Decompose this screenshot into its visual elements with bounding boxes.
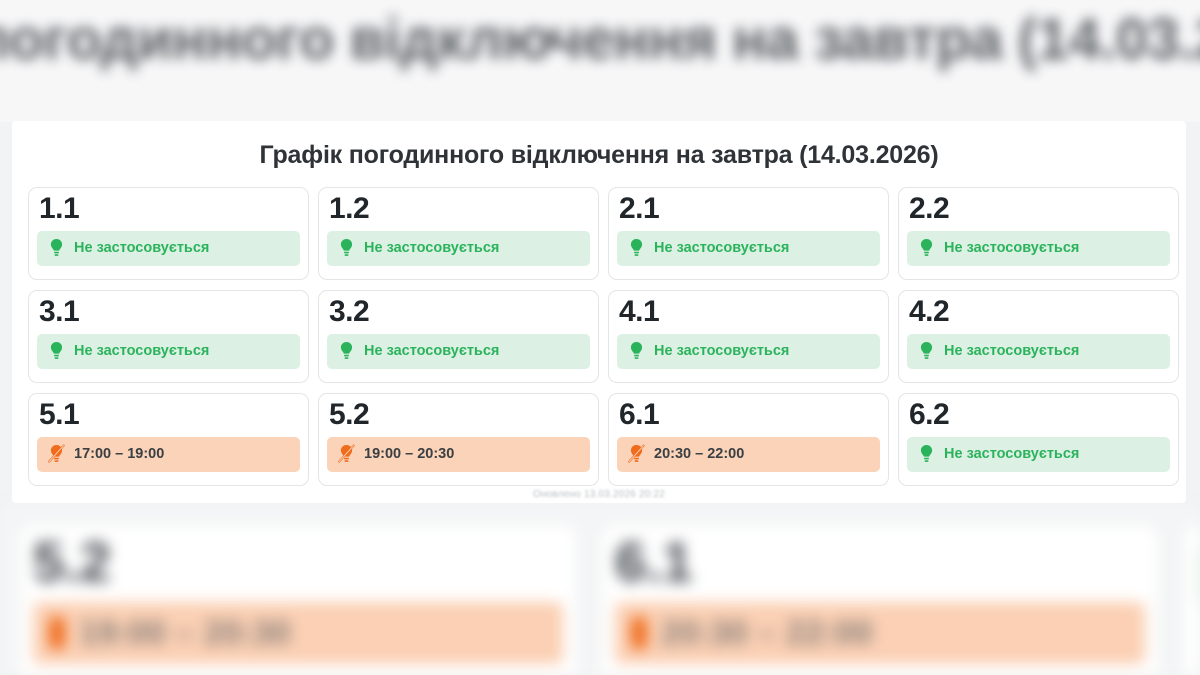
- ghost-card-badge: 20:30 – 22:00: [615, 602, 1145, 664]
- ghost-card-time: 20:30 – 22:00: [661, 614, 873, 653]
- queue-card[interactable]: 3.1 Не застосовується: [28, 290, 309, 383]
- queue-card[interactable]: 4.2 Не застосовується: [898, 290, 1179, 383]
- lightbulb-icon: [628, 341, 645, 361]
- ghost-card-number: 6.1: [615, 534, 1145, 590]
- status-badge: Не застосовується: [327, 231, 590, 266]
- queue-number: 1.2: [327, 191, 590, 228]
- lightbulb-icon: [918, 238, 935, 258]
- status-label: Не застосовується: [944, 447, 1079, 462]
- status-badge: Не застосовується: [907, 334, 1170, 369]
- queue-number: 3.1: [37, 294, 300, 331]
- status-label: 17:00 – 19:00: [74, 447, 164, 462]
- queue-card[interactable]: 4.1 Не застосовується: [608, 290, 889, 383]
- lightbulb-icon: [918, 341, 935, 361]
- lightbulb-slash-icon: [631, 616, 647, 650]
- queue-card[interactable]: 2.2 Не застосовується: [898, 187, 1179, 280]
- ghost-card-number: 5.2: [33, 534, 563, 590]
- ghost-card-badge: 19:00 – 20:30: [33, 602, 563, 664]
- status-label: Не застосовується: [654, 344, 789, 359]
- queue-card[interactable]: 1.1 Не застосовується: [28, 187, 309, 280]
- lightbulb-icon: [48, 238, 65, 258]
- status-label: Не застосовується: [944, 344, 1079, 359]
- status-badge: Не застосовується: [37, 334, 300, 369]
- status-badge: Не застосовується: [907, 231, 1170, 266]
- page-title: Графік погодинного відключення на завтра…: [12, 142, 1186, 170]
- status-badge: Не застосовується: [617, 231, 880, 266]
- ghost-card: 5.2 19:00 – 20:30: [18, 523, 578, 675]
- queue-number: 6.1: [617, 397, 880, 434]
- lightbulb-icon: [918, 444, 935, 464]
- status-badge: 19:00 – 20:30: [327, 437, 590, 472]
- status-label: Не застосовується: [654, 241, 789, 256]
- lightbulb-icon: [338, 238, 355, 258]
- queue-number: 2.2: [907, 191, 1170, 228]
- ghost-card: [1182, 523, 1200, 675]
- queue-card[interactable]: 5.2 19:00 – 20:30: [318, 393, 599, 486]
- queue-card[interactable]: 1.2 Не застосовується: [318, 187, 599, 280]
- queue-card[interactable]: 5.1 17:00 – 19:00: [28, 393, 309, 486]
- background-ghost-cards: 5.2 19:00 – 20:30 6.1 20:30 – 22:00: [0, 505, 1200, 675]
- status-label: 19:00 – 20:30: [364, 447, 454, 462]
- queue-card[interactable]: 6.1 20:30 – 22:00: [608, 393, 889, 486]
- status-label: Не застосовується: [944, 241, 1079, 256]
- queue-number: 5.2: [327, 397, 590, 434]
- ghost-card-time: 19:00 – 20:30: [79, 614, 291, 653]
- status-label: Не застосовується: [74, 344, 209, 359]
- lightbulb-icon: [338, 341, 355, 361]
- queue-number: 2.1: [617, 191, 880, 228]
- lightbulb-slash-icon: [48, 444, 65, 464]
- status-badge: Не застосовується: [907, 437, 1170, 472]
- queue-number: 5.1: [37, 397, 300, 434]
- lightbulb-slash-icon: [49, 616, 65, 650]
- lightbulb-icon: [628, 238, 645, 258]
- queue-card[interactable]: 3.2 Не застосовується: [318, 290, 599, 383]
- lightbulb-icon: [48, 341, 65, 361]
- queue-card[interactable]: 6.2 Не застосовується: [898, 393, 1179, 486]
- ghost-header-title: к погодинного відключення на завтра (14.…: [0, 6, 1200, 73]
- queue-number: 6.2: [907, 397, 1170, 434]
- status-badge: 20:30 – 22:00: [617, 437, 880, 472]
- background-ghost-header: к погодинного відключення на завтра (14.…: [0, 0, 1200, 122]
- status-badge: Не застосовується: [37, 231, 300, 266]
- schedule-panel: Графік погодинного відключення на завтра…: [12, 121, 1186, 503]
- lightbulb-slash-icon: [338, 444, 355, 464]
- ghost-card: 6.1 20:30 – 22:00: [600, 523, 1160, 675]
- queue-number: 4.2: [907, 294, 1170, 331]
- queue-card[interactable]: 2.1 Не застосовується: [608, 187, 889, 280]
- queue-number: 3.2: [327, 294, 590, 331]
- status-label: Не застосовується: [364, 344, 499, 359]
- status-label: Не застосовується: [364, 241, 499, 256]
- status-badge: Не застосовується: [327, 334, 590, 369]
- lightbulb-slash-icon: [628, 444, 645, 464]
- status-label: Не застосовується: [74, 241, 209, 256]
- status-label: 20:30 – 22:00: [654, 447, 744, 462]
- status-badge: Не застосовується: [617, 334, 880, 369]
- queue-card-grid: 1.1 Не застосовується 1.2: [28, 187, 1186, 486]
- updated-timestamp: Оновлено 13.03.2026 20:22: [12, 489, 1186, 500]
- queue-number: 1.1: [37, 191, 300, 228]
- status-badge: 17:00 – 19:00: [37, 437, 300, 472]
- queue-number: 4.1: [617, 294, 880, 331]
